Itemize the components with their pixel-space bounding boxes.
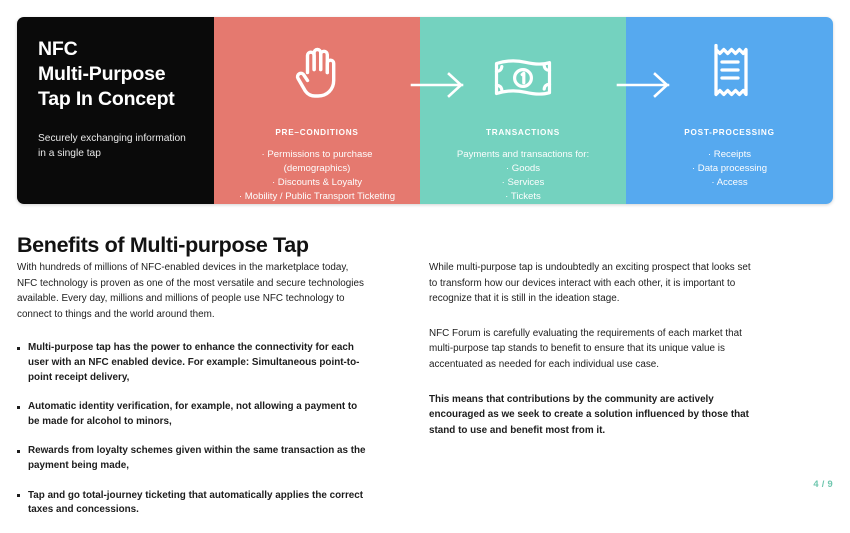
paragraph-3: This means that contributions by the com… [429, 392, 759, 439]
stage-item: · Data processing [630, 162, 829, 176]
stage-item: · Services [424, 176, 622, 190]
stage-item: · Receipts [630, 148, 829, 162]
stage-label-pre-conditions: PRE–CONDITIONS [214, 128, 420, 137]
receipt-icon [626, 43, 833, 99]
stage-list-post-processing: · Receipts · Data processing · Access [630, 148, 829, 190]
stage-list-transactions: Payments and transactions for: · Goods ·… [424, 148, 622, 204]
intro-paragraph: With hundreds of millions of NFC-enabled… [17, 260, 369, 322]
stage-panel-transactions: TRANSACTIONS Payments and transactions f… [420, 17, 626, 204]
concept-banner: NFC Multi-Purpose Tap In Concept Securel… [17, 17, 833, 204]
stage-panel-pre-conditions: PRE–CONDITIONS · Permissions to purchase… [214, 17, 420, 204]
slide-root: NFC Multi-Purpose Tap In Concept Securel… [0, 0, 850, 507]
page-title: Benefits of Multi-purpose Tap [17, 233, 309, 258]
hand-icon [214, 43, 420, 99]
banner-title-panel: NFC Multi-Purpose Tap In Concept Securel… [17, 17, 214, 204]
stage-panel-post-processing: POST-PROCESSING · Receipts · Data proces… [626, 17, 833, 204]
banknote-icon [420, 43, 626, 99]
benefits-bullet-list: Multi-purpose tap has the power to enhan… [17, 341, 369, 517]
page-indicator: 4 / 9 [813, 479, 833, 489]
stage-label-transactions: TRANSACTIONS [420, 128, 626, 137]
list-item: Automatic identity verification, for exa… [17, 400, 369, 429]
stage-item: · Tickets [424, 190, 622, 204]
stage-item: · Access [630, 176, 829, 190]
stage-item: · Goods [424, 162, 622, 176]
paragraph-2: NFC Forum is carefully evaluating the re… [429, 326, 759, 373]
banner-subtitle: Securely exchanging information in a sin… [38, 131, 214, 161]
list-item: Rewards from loyalty schemes given withi… [17, 444, 369, 473]
stage-item: · Permissions to purchase [218, 148, 416, 162]
banner-title: NFC Multi-Purpose Tap In Concept [38, 37, 214, 112]
left-column: With hundreds of millions of NFC-enabled… [17, 260, 369, 533]
stage-list-pre-conditions: · Permissions to purchase (demographics)… [218, 148, 416, 204]
stage-item: Payments and transactions for: [424, 148, 622, 162]
stage-label-post-processing: POST-PROCESSING [626, 128, 833, 137]
paragraph-1: While multi-purpose tap is undoubtedly a… [429, 260, 759, 307]
list-item: Multi-purpose tap has the power to enhan… [17, 341, 369, 385]
list-item: Tap and go total-journey ticketing that … [17, 489, 369, 518]
stage-item: · Mobility / Public Transport Ticketing [218, 190, 416, 204]
stage-item: · Discounts & Loyalty [218, 176, 416, 190]
right-column: While multi-purpose tap is undoubtedly a… [429, 260, 759, 457]
stage-item: (demographics) [218, 162, 416, 176]
